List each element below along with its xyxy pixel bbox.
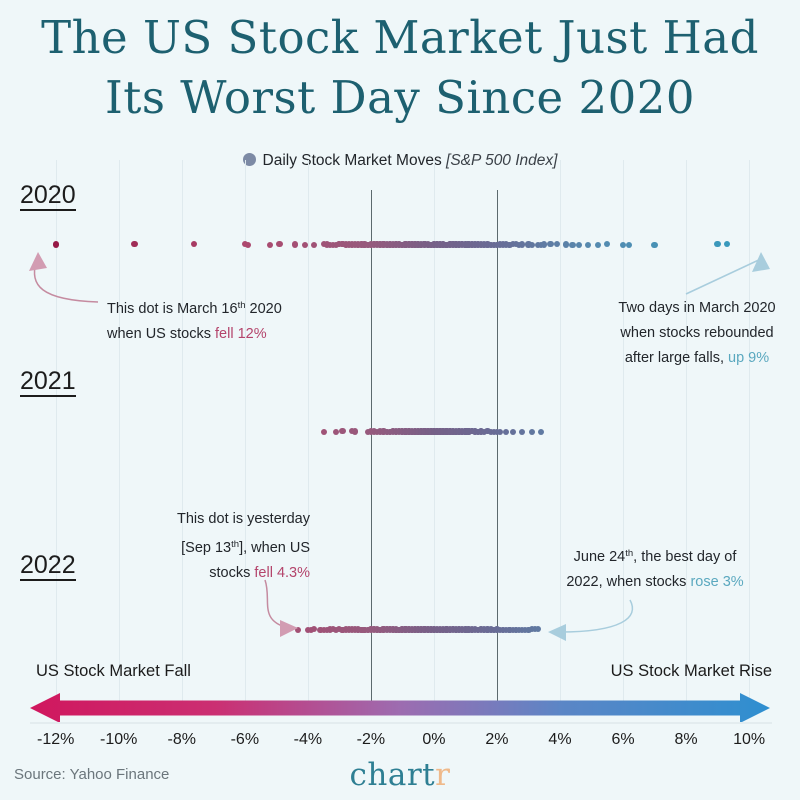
swarm-dot <box>459 627 465 633</box>
swarm-dot <box>453 627 459 633</box>
swarm-dot <box>488 626 494 632</box>
swarm-dot <box>399 428 405 434</box>
swarm-dot <box>396 428 402 434</box>
swarm-dot <box>421 627 427 633</box>
swarm-dot <box>421 626 427 632</box>
swarm-dot <box>406 626 412 632</box>
swarm-dot <box>365 627 371 633</box>
axis-tick-labels: -12%-10%-8%-6%-4%-2%0%2%4%6%8%10% <box>0 731 800 755</box>
annotation-rebound: Two days in March 2020 when stocks rebou… <box>592 296 800 371</box>
swarm-dot <box>595 242 601 248</box>
swarm-dot <box>355 627 361 633</box>
swarm-dot <box>380 241 386 247</box>
swarm-dot <box>541 241 547 247</box>
swarm-dot <box>336 241 342 247</box>
background-gridline <box>623 160 624 710</box>
swarm-dot <box>399 242 405 248</box>
swarm-dot <box>415 241 421 247</box>
swarm-dot <box>475 429 481 435</box>
swarm-dot <box>447 429 453 435</box>
swarm-dot <box>421 428 427 434</box>
swarm-dot <box>406 428 412 434</box>
swarm-dot <box>484 428 490 434</box>
swarm-dot <box>516 242 522 248</box>
swarm-dot <box>465 626 471 632</box>
swarm-dot <box>428 429 434 435</box>
swarm-dot <box>456 428 462 434</box>
swarm-dot <box>409 429 415 435</box>
swarm-dot <box>469 626 475 632</box>
axis-tick-0: 0% <box>422 731 445 749</box>
swarm-dot <box>428 429 434 435</box>
swarm-dot <box>475 627 481 633</box>
swarm-dot <box>406 428 412 434</box>
annotation-rebound-line1: Two days in March 2020 <box>592 296 800 321</box>
swarm-dot <box>443 428 449 434</box>
swarm-dot <box>462 627 468 633</box>
swarm-dot <box>380 627 386 633</box>
swarm-dot <box>506 627 512 633</box>
swarm-dot <box>425 429 431 435</box>
swarm-dot <box>415 429 421 435</box>
reference-line--2 <box>371 190 372 710</box>
axis-tick-neg4: -4% <box>294 731 322 749</box>
swarm-dot <box>456 241 462 247</box>
swarm-dot <box>443 242 449 248</box>
swarm-dot <box>462 429 468 435</box>
swarm-dot <box>443 429 449 435</box>
swarm-dot <box>519 429 525 435</box>
swarm-dot <box>503 627 509 633</box>
swarm-dot <box>425 429 431 435</box>
swarm-dot <box>402 428 408 434</box>
swarm-dot <box>425 428 431 434</box>
background-gridline <box>182 160 183 710</box>
swarm-dot <box>459 429 465 435</box>
swarm-dot <box>276 241 282 247</box>
swarm-dot <box>440 627 446 633</box>
swarm-dot <box>409 429 415 435</box>
swarm-dot <box>412 429 418 435</box>
swarm-dot <box>465 428 471 434</box>
swarm-dot <box>267 242 273 248</box>
swarm-dot <box>421 428 427 434</box>
swarm-dot <box>475 242 481 248</box>
swarm-dot <box>406 627 412 633</box>
swarm-dot <box>453 429 459 435</box>
swarm-dot <box>428 428 434 434</box>
swarm-dot <box>503 241 509 247</box>
swarm-dot <box>409 627 415 633</box>
swarm-dot <box>440 241 446 247</box>
swarm-dot <box>377 428 383 434</box>
swarm-dot <box>418 241 424 247</box>
swarm-dot <box>377 627 383 633</box>
swarm-dot <box>321 429 327 435</box>
swarm-dot <box>415 429 421 435</box>
swarm-dot <box>399 626 405 632</box>
swarm-dot <box>396 627 402 633</box>
swarm-dot <box>440 242 446 248</box>
swarm-dot <box>447 428 453 434</box>
axis-tick-10: 10% <box>733 731 765 749</box>
swarm-dot <box>456 429 462 435</box>
swarm-dot <box>453 429 459 435</box>
swarm-dot <box>418 627 424 633</box>
swarm-dot <box>412 242 418 248</box>
swarm-dot <box>437 429 443 435</box>
swarm-dot <box>500 627 506 633</box>
swarm-dot <box>465 428 471 434</box>
swarm-dot <box>361 627 367 633</box>
swarm-dot <box>453 241 459 247</box>
swarm-dot <box>437 241 443 247</box>
swarm-dot <box>393 429 399 435</box>
swarm-dot <box>361 242 367 248</box>
swarm-dot <box>421 429 427 435</box>
swarm-dot <box>554 241 560 247</box>
swarm-dot <box>292 241 298 247</box>
swarm-dot <box>418 242 424 248</box>
swarm-dot <box>412 626 418 632</box>
swarm-dot <box>292 242 298 248</box>
swarm-dot <box>330 242 336 248</box>
swarm-dot <box>450 627 456 633</box>
background-gridline <box>434 160 435 710</box>
row-label-2021: 2021 <box>20 368 76 397</box>
swarm-dot <box>450 241 456 247</box>
swarm-dot <box>428 627 434 633</box>
swarm-dot <box>428 626 434 632</box>
infographic-canvas: The US Stock Market Just Had Its Worst D… <box>0 0 800 800</box>
swarm-dot <box>358 627 364 633</box>
swarm-dot <box>519 627 525 633</box>
swarm-dot <box>472 428 478 434</box>
swarm-dot <box>412 627 418 633</box>
swarm-dot <box>459 241 465 247</box>
swarm-dot <box>406 627 412 633</box>
swarm-dot <box>390 627 396 633</box>
gradient-axis-arrow <box>30 693 770 723</box>
swarm-dot <box>456 429 462 435</box>
swarm-dot <box>409 626 415 632</box>
swarm-dot <box>399 242 405 248</box>
swarm-dot <box>425 428 431 434</box>
swarm-dot <box>453 626 459 632</box>
swarm-dot <box>447 428 453 434</box>
swarm-dot <box>478 626 484 632</box>
swarm-dot <box>484 626 490 632</box>
swarm-dot <box>538 429 544 435</box>
swarm-dot <box>399 429 405 435</box>
swarm-dot <box>412 242 418 248</box>
swarm-dot <box>506 242 512 248</box>
swarm-dot <box>352 428 358 434</box>
swarm-dot <box>380 428 386 434</box>
swarm-dot <box>384 626 390 632</box>
swarm-dot <box>450 428 456 434</box>
swarm-dot <box>374 241 380 247</box>
swarm-dot <box>569 242 575 248</box>
swarm-dot <box>437 428 443 434</box>
swarm-dot <box>443 626 449 632</box>
swarm-dot <box>418 626 424 632</box>
swarm-dot <box>412 627 418 633</box>
swarm-dot <box>450 429 456 435</box>
background-gridline <box>686 160 687 710</box>
swarm-dot <box>437 428 443 434</box>
swarm-dot <box>390 428 396 434</box>
swarm-dot <box>428 242 434 248</box>
swarm-dot <box>440 241 446 247</box>
swarm-dot <box>377 241 383 247</box>
swarm-dot <box>450 241 456 247</box>
swarm-dot <box>447 241 453 247</box>
swarm-dot <box>529 242 535 248</box>
swarm-dot <box>295 627 301 633</box>
swarm-dot <box>465 428 471 434</box>
legend-label: Daily Stock Market Moves <box>263 152 442 169</box>
swarm-dot <box>472 626 478 632</box>
swarm-dot <box>456 428 462 434</box>
reference-line-2 <box>497 190 498 710</box>
swarm-dot <box>402 627 408 633</box>
swarm-dot <box>393 428 399 434</box>
swarm-dot <box>418 429 424 435</box>
swarm-dot <box>425 242 431 248</box>
swarm-dot <box>714 241 720 247</box>
swarm-dot <box>387 241 393 247</box>
swarm-dot <box>409 242 415 248</box>
swarm-dot <box>425 627 431 633</box>
swarm-dot <box>339 241 345 247</box>
swarm-dot <box>396 242 402 248</box>
swarm-dot <box>402 242 408 248</box>
swarm-dot <box>443 429 449 435</box>
swarm-dot <box>450 429 456 435</box>
swarm-dot <box>402 626 408 632</box>
swarm-dot <box>475 241 481 247</box>
swarm-dot <box>415 242 421 248</box>
swarm-dot <box>396 242 402 248</box>
axis-baseline <box>30 722 772 724</box>
swarm-dot <box>409 627 415 633</box>
swarm-dot <box>302 242 308 248</box>
swarm-dot <box>393 627 399 633</box>
swarm-dot <box>472 241 478 247</box>
swarm-dot <box>469 428 475 434</box>
swarm-dot <box>453 241 459 247</box>
swarm-dot <box>396 241 402 247</box>
swarm-dot <box>447 429 453 435</box>
swarm-dot <box>651 242 657 248</box>
swarm-dot <box>409 429 415 435</box>
swarm-dot <box>418 429 424 435</box>
background-gridline <box>119 160 120 710</box>
annotation-june-24-line1: June 24th, the best day of <box>540 541 770 570</box>
swarm-dot <box>453 241 459 247</box>
swarm-dot <box>447 627 453 633</box>
swarm-dot <box>447 241 453 247</box>
swarm-dot <box>380 241 386 247</box>
swarm-dot <box>399 627 405 633</box>
swarm-dot <box>361 241 367 247</box>
swarm-dot <box>525 241 531 247</box>
swarm-dot <box>437 627 443 633</box>
swarm-dot <box>346 626 352 632</box>
swarm-dot <box>365 242 371 248</box>
swarm-dot <box>321 627 327 633</box>
swarm-dot <box>421 428 427 434</box>
swarm-dot <box>421 241 427 247</box>
swarm-dot <box>459 241 465 247</box>
swarm-dot <box>462 242 468 248</box>
swarm-dot <box>453 429 459 435</box>
swarm-dot <box>384 626 390 632</box>
swarm-dot <box>481 627 487 633</box>
swarm-dot <box>425 242 431 248</box>
swarm-dot <box>484 627 490 633</box>
swarm-dot <box>453 429 459 435</box>
swarm-dot <box>447 428 453 434</box>
swarm-dot <box>456 627 462 633</box>
swarm-dot <box>377 627 383 633</box>
swarm-dot <box>447 429 453 435</box>
swarm-dot <box>428 429 434 435</box>
swarm-dot <box>415 429 421 435</box>
swarm-dot <box>450 626 456 632</box>
swarm-dot <box>415 626 421 632</box>
swarm-dot <box>437 242 443 248</box>
swarm-dot <box>349 626 355 632</box>
swarm-dot <box>415 429 421 435</box>
swarm-dot <box>425 627 431 633</box>
swarm-dot <box>415 241 421 247</box>
swarm-dot <box>516 627 522 633</box>
axis-tick-8: 8% <box>674 731 697 749</box>
swarm-dot <box>469 627 475 633</box>
swarm-dot <box>390 242 396 248</box>
swarm-dot <box>380 626 386 632</box>
swarm-dot <box>472 429 478 435</box>
swarm-dot <box>440 428 446 434</box>
swarm-dot <box>374 242 380 248</box>
background-gridline <box>308 160 309 710</box>
swarm-dot <box>374 627 380 633</box>
swarm-dot <box>396 627 402 633</box>
swarm-dot <box>469 627 475 633</box>
swarm-dot <box>425 626 431 632</box>
swarm-dot <box>469 242 475 248</box>
swarm-dot <box>402 626 408 632</box>
annotation-june-24-line2: 2022, when stocks rose 3% <box>540 570 770 595</box>
swarm-dot <box>462 428 468 434</box>
swarm-dot <box>453 429 459 435</box>
swarm-dot <box>365 242 371 248</box>
swarm-dot <box>355 241 361 247</box>
swarm-dot <box>437 241 443 247</box>
annotation-yesterday-line1: This dot is yesterday <box>140 507 310 532</box>
swarm-dot <box>317 627 323 633</box>
swarm-dot <box>428 428 434 434</box>
swarm-dot <box>503 429 509 435</box>
swarm-dot <box>390 626 396 632</box>
swarm-dot <box>535 242 541 248</box>
swarm-dot <box>390 242 396 248</box>
swarm-dot <box>428 429 434 435</box>
swarm-dot <box>352 626 358 632</box>
swarm-dot <box>428 428 434 434</box>
swarm-dot <box>402 242 408 248</box>
swarm-dot <box>510 627 516 633</box>
swarm-dot <box>396 241 402 247</box>
swarm-dot <box>513 627 519 633</box>
swarm-dot <box>437 429 443 435</box>
swarm-dot <box>409 241 415 247</box>
swarm-dot <box>437 428 443 434</box>
swarm-dot <box>491 242 497 248</box>
swarm-dot <box>453 428 459 434</box>
swarm-dot <box>447 428 453 434</box>
swarm-dot <box>525 627 531 633</box>
swarm-dot <box>396 627 402 633</box>
swarm-dot <box>330 626 336 632</box>
swarm-dot <box>387 242 393 248</box>
swarm-dot <box>421 429 427 435</box>
swarm-dot <box>472 241 478 247</box>
swarm-dot <box>529 626 535 632</box>
swarm-dot <box>437 429 443 435</box>
swarm-dot <box>396 429 402 435</box>
swarm-dot <box>506 627 512 633</box>
swarm-dot <box>488 627 494 633</box>
swarm-dot <box>469 428 475 434</box>
swarm-dot <box>724 241 730 247</box>
annotation-march-16-line1: This dot is March 16th 2020 <box>107 293 367 322</box>
annotation-march-16-line2: when US stocks fell 12% <box>107 322 367 347</box>
swarm-dot <box>465 242 471 248</box>
swarm-dot <box>384 242 390 248</box>
swarm-dot <box>443 242 449 248</box>
swarm-dot <box>402 626 408 632</box>
swarm-dot <box>418 626 424 632</box>
swarm-dot <box>459 429 465 435</box>
swarm-dot <box>421 241 427 247</box>
swarm-dot <box>425 242 431 248</box>
swarm-dot <box>428 242 434 248</box>
swarm-dot <box>437 429 443 435</box>
swarm-dot <box>447 627 453 633</box>
swarm-dot <box>450 428 456 434</box>
swarm-dot <box>415 429 421 435</box>
swarm-dot <box>491 429 497 435</box>
swarm-dot <box>339 428 345 434</box>
swarm-dot <box>481 429 487 435</box>
swarm-dot <box>343 626 349 632</box>
swarm-dot <box>428 428 434 434</box>
swarm-dot <box>440 242 446 248</box>
chart-legend: Daily Stock Market Moves [S&P 500 Index] <box>0 152 800 170</box>
swarm-dot <box>547 241 553 247</box>
swarm-dot <box>406 428 412 434</box>
axis-tick-neg10: -10% <box>100 731 137 749</box>
swarm-dot <box>421 241 427 247</box>
swarm-dot <box>437 428 443 434</box>
swarm-dot <box>402 429 408 435</box>
swarm-dot <box>421 428 427 434</box>
swarm-dot <box>399 627 405 633</box>
swarm-dot <box>456 626 462 632</box>
